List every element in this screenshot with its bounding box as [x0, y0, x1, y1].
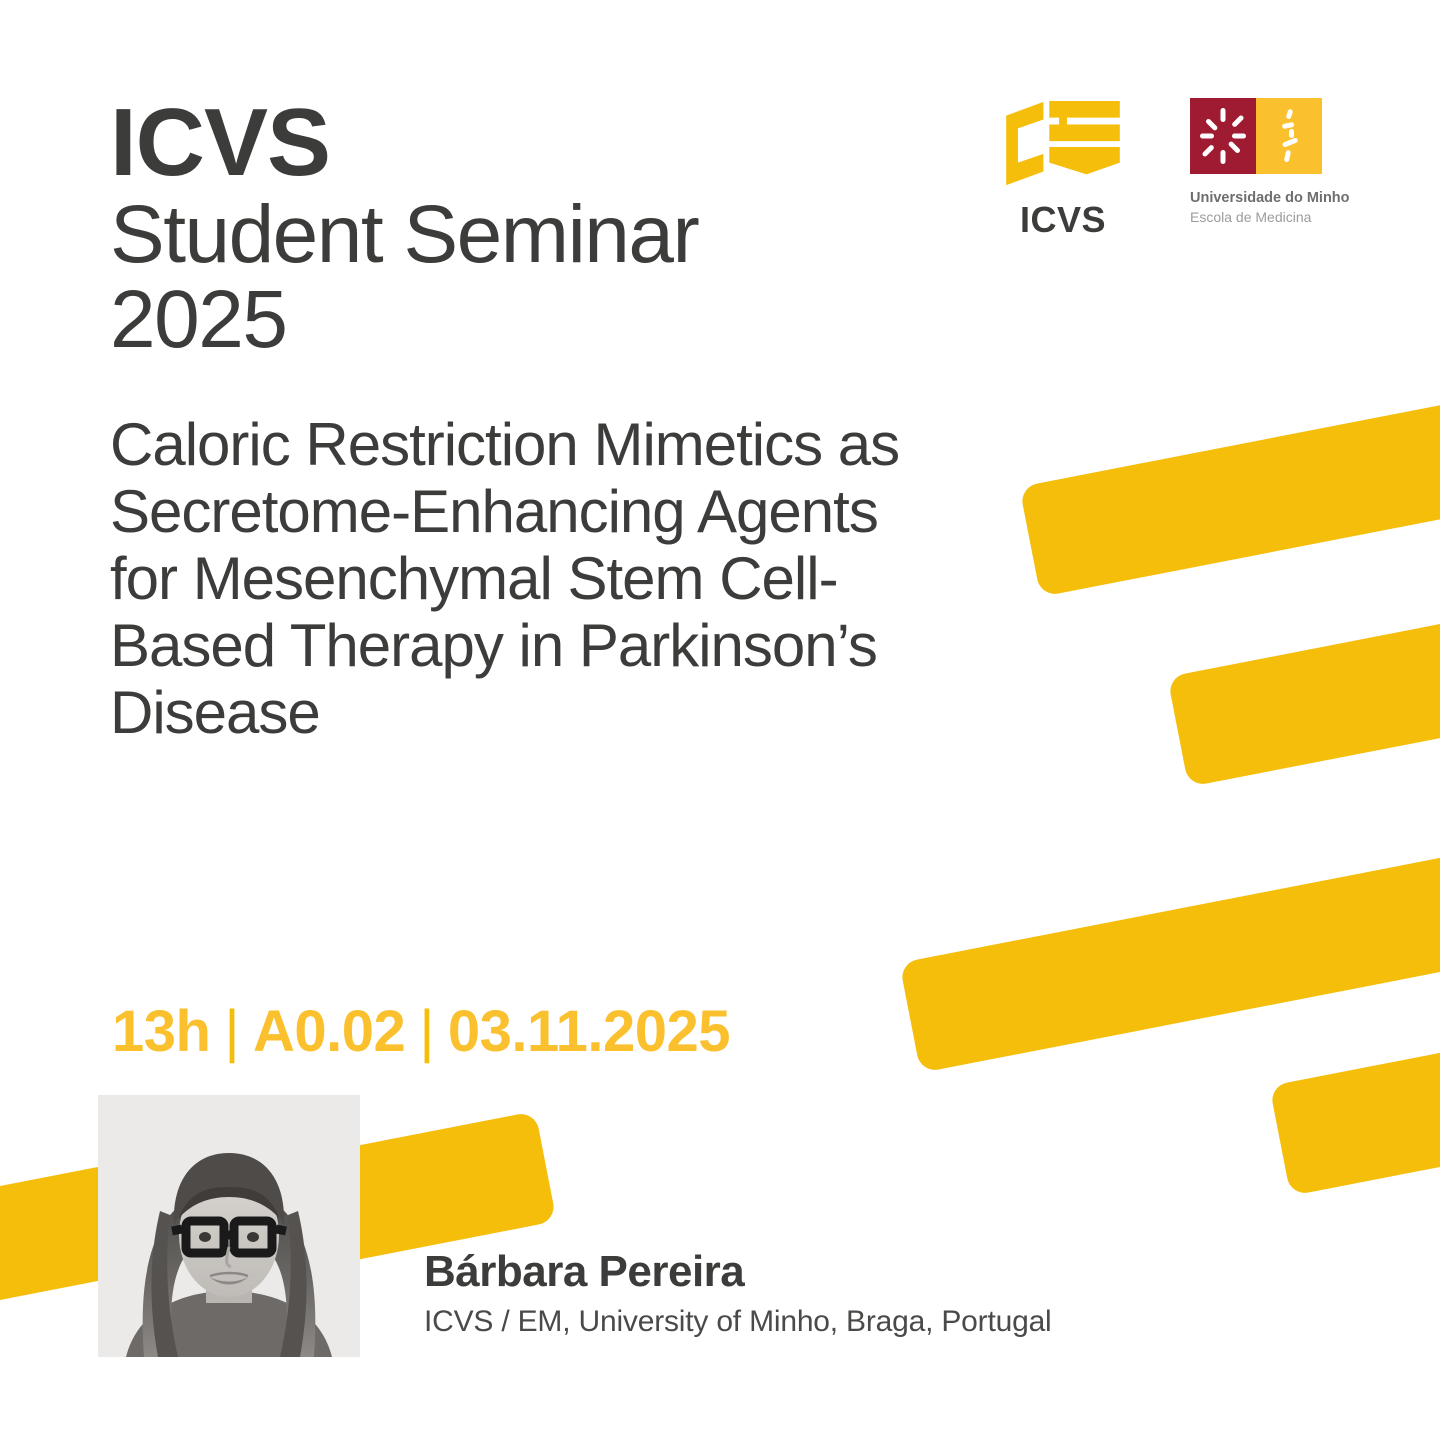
headings-block: ICVS Student Seminar2025 Caloric Restric… — [110, 96, 940, 747]
event-date: 03.11.2025 — [448, 1003, 730, 1061]
icvs-logo-block: ICVS — [998, 98, 1128, 238]
yellow-bar-1 — [1019, 369, 1440, 597]
speaker-info: Bárbara Pereira ICVS / EM, University of… — [424, 1248, 1052, 1340]
details-separator-1: | — [224, 1003, 239, 1061]
seminar-poster: ICVS — [0, 0, 1440, 1440]
speaker-affiliation: ICVS / EM, University of Minho, Braga, P… — [424, 1304, 1052, 1340]
talk-title: Caloric Restriction Mimetics as Secretom… — [110, 411, 920, 747]
event-title: Student Seminar2025 — [110, 192, 930, 363]
event-name: Student Seminar — [110, 189, 698, 280]
uminho-logo-block: Universidade do Minho Escola de Medicina — [1190, 98, 1342, 225]
brand-title: ICVS — [110, 96, 940, 190]
details-separator-2: | — [419, 1003, 434, 1061]
uminho-subtitle: Escola de Medicina — [1190, 209, 1342, 226]
yellow-bar-3 — [899, 822, 1440, 1073]
event-time: 13h — [112, 1003, 210, 1061]
icvs-book-logo-icon — [1004, 98, 1122, 194]
yellow-bar-2 — [1167, 582, 1440, 787]
uminho-title: Universidade do Minho — [1190, 190, 1342, 207]
icvs-wordmark: ICVS — [1020, 202, 1106, 238]
speaker-photo — [98, 1095, 360, 1357]
event-room: A0.02 — [253, 1003, 405, 1061]
speaker-name: Bárbara Pereira — [424, 1248, 1052, 1296]
speaker-portrait-image — [98, 1095, 360, 1357]
yellow-bar-4 — [1269, 1010, 1440, 1196]
event-year: 2025 — [110, 274, 286, 365]
event-details: 13h | A0.02 | 03.11.2025 — [112, 1003, 730, 1061]
uminho-logo-icon — [1190, 98, 1322, 174]
logo-row: ICVS — [998, 98, 1342, 238]
